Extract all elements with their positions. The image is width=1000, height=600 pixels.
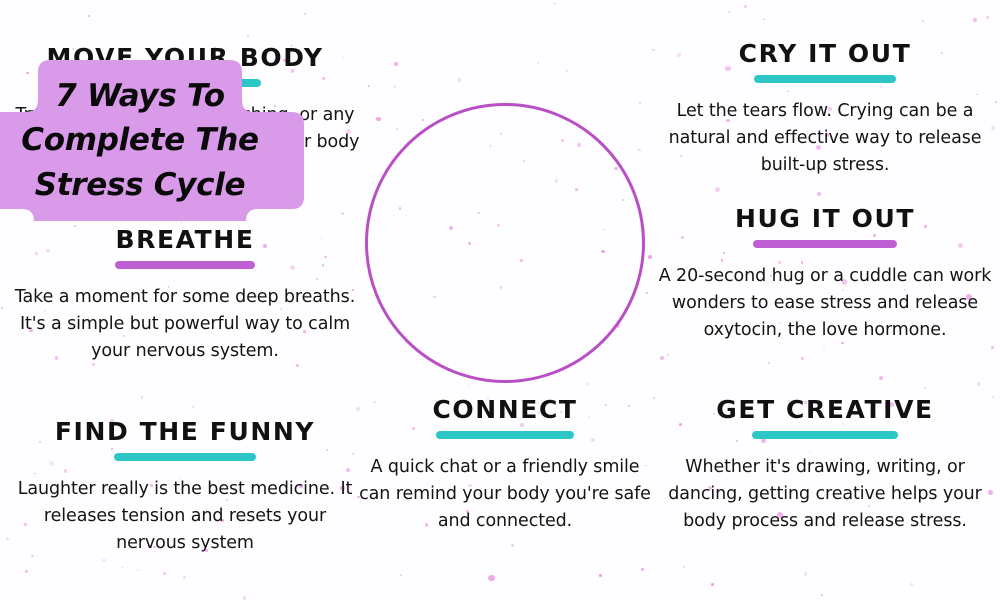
speckle-dot bbox=[102, 559, 105, 562]
speckle-dot bbox=[683, 566, 686, 569]
speckle-dot bbox=[801, 357, 803, 359]
speckle-dot bbox=[977, 382, 981, 386]
tip-cry-it-out: CRY IT OUT Let the tears flow. Crying ca… bbox=[650, 40, 1000, 180]
speckle-dot bbox=[393, 85, 396, 88]
speckle-dot bbox=[247, 34, 250, 37]
speckle-dot bbox=[243, 596, 246, 599]
speckle-dot bbox=[181, 222, 183, 224]
speckle-dot bbox=[637, 87, 639, 89]
speckle-dot bbox=[337, 575, 339, 577]
speckle-dot bbox=[804, 572, 807, 575]
speckle-dot bbox=[879, 376, 884, 381]
tip-get-creative: GET CREATIVE Whether it's drawing, writi… bbox=[650, 396, 1000, 536]
speckle-dot bbox=[667, 354, 669, 356]
tip-breathe: BREATHE Take a moment for some deep brea… bbox=[10, 226, 360, 366]
tip-hug-it-out: HUG IT OUT A 20-second hug or a cuddle c… bbox=[650, 205, 1000, 345]
speckle-dot bbox=[394, 62, 398, 66]
tip-underline bbox=[754, 75, 896, 83]
speckle-dot bbox=[163, 572, 166, 575]
tip-body: A quick chat or a friendly smile can rem… bbox=[355, 454, 655, 536]
speckle-dot bbox=[25, 570, 28, 573]
tip-underline bbox=[115, 261, 255, 269]
tip-underline bbox=[752, 431, 898, 439]
speckle-dot bbox=[1, 307, 3, 309]
speckle-dot bbox=[973, 18, 977, 22]
speckle-dot bbox=[511, 544, 514, 547]
speckle-dot bbox=[468, 385, 470, 387]
tip-body: Take a moment for some deep breaths. It'… bbox=[10, 284, 360, 366]
tip-body: Whether it's drawing, writing, or dancin… bbox=[650, 454, 1000, 536]
center-badge-title: 7 Ways To Complete The Stress Cycle bbox=[0, 60, 304, 221]
speckle-dot bbox=[73, 376, 75, 378]
tip-heading: HUG IT OUT bbox=[650, 205, 1000, 233]
speckle-dot bbox=[341, 212, 343, 214]
speckle-dot bbox=[823, 346, 825, 348]
tip-find-the-funny: FIND THE FUNNY Laughter really is the be… bbox=[10, 418, 360, 558]
speckle-dot bbox=[400, 574, 402, 576]
speckle-dot bbox=[715, 187, 720, 192]
tip-heading: BREATHE bbox=[10, 226, 360, 254]
center-circle-outline bbox=[365, 103, 645, 383]
speckle-dot bbox=[137, 569, 139, 571]
tip-underline bbox=[114, 453, 256, 461]
speckle-dot bbox=[768, 362, 770, 364]
speckle-dot bbox=[641, 568, 644, 571]
tip-body: Let the tears flow. Crying can be a natu… bbox=[650, 98, 1000, 180]
speckle-dot bbox=[88, 15, 90, 17]
speckle-dot bbox=[537, 62, 539, 64]
speckle-dot bbox=[554, 3, 556, 5]
speckle-dot bbox=[122, 567, 124, 569]
tip-body: A 20-second hug or a cuddle can work won… bbox=[650, 263, 1000, 345]
tip-connect: CONNECT A quick chat or a friendly smile… bbox=[355, 396, 655, 536]
speckle-dot bbox=[458, 78, 462, 82]
speckle-dot bbox=[744, 5, 746, 7]
speckle-dot bbox=[566, 70, 568, 72]
speckle-dot bbox=[660, 356, 664, 360]
badge-title-line-1: 7 Ways To bbox=[55, 74, 225, 118]
tip-underline bbox=[436, 431, 574, 439]
tip-heading: CONNECT bbox=[355, 396, 655, 424]
speckle-dot bbox=[924, 387, 926, 389]
speckle-dot bbox=[821, 594, 823, 596]
speckle-dot bbox=[141, 396, 144, 399]
center-emblem bbox=[365, 103, 645, 383]
speckle-dot bbox=[646, 292, 648, 294]
badge-title-line-3: Stress Cycle bbox=[35, 163, 246, 207]
tip-heading: GET CREATIVE bbox=[650, 396, 1000, 424]
speckle-dot bbox=[183, 576, 187, 580]
speckle-dot bbox=[488, 575, 494, 581]
tip-heading: CRY IT OUT bbox=[650, 40, 1000, 68]
speckle-dot bbox=[728, 11, 730, 13]
speckle-dot bbox=[817, 192, 821, 196]
speckle-dot bbox=[192, 406, 194, 408]
tip-heading: FIND THE FUNNY bbox=[10, 418, 360, 446]
speckle-dot bbox=[368, 85, 371, 88]
tip-underline bbox=[753, 240, 897, 248]
speckle-dot bbox=[6, 538, 9, 541]
speckle-dot bbox=[541, 591, 543, 593]
badge-title-line-2: Complete The bbox=[21, 118, 258, 162]
speckle-dot bbox=[763, 19, 765, 21]
infographic-poster: 7 Ways To Complete The Stress Cycle MOVE… bbox=[0, 0, 1000, 600]
speckle-dot bbox=[986, 16, 989, 19]
speckle-dot bbox=[711, 583, 714, 586]
speckle-dot bbox=[910, 583, 913, 586]
speckle-dot bbox=[922, 20, 924, 22]
speckle-dot bbox=[599, 574, 602, 577]
tip-body: Laughter really is the best medicine. It… bbox=[10, 476, 360, 558]
speckle-dot bbox=[991, 346, 994, 349]
speckle-dot bbox=[304, 13, 306, 15]
